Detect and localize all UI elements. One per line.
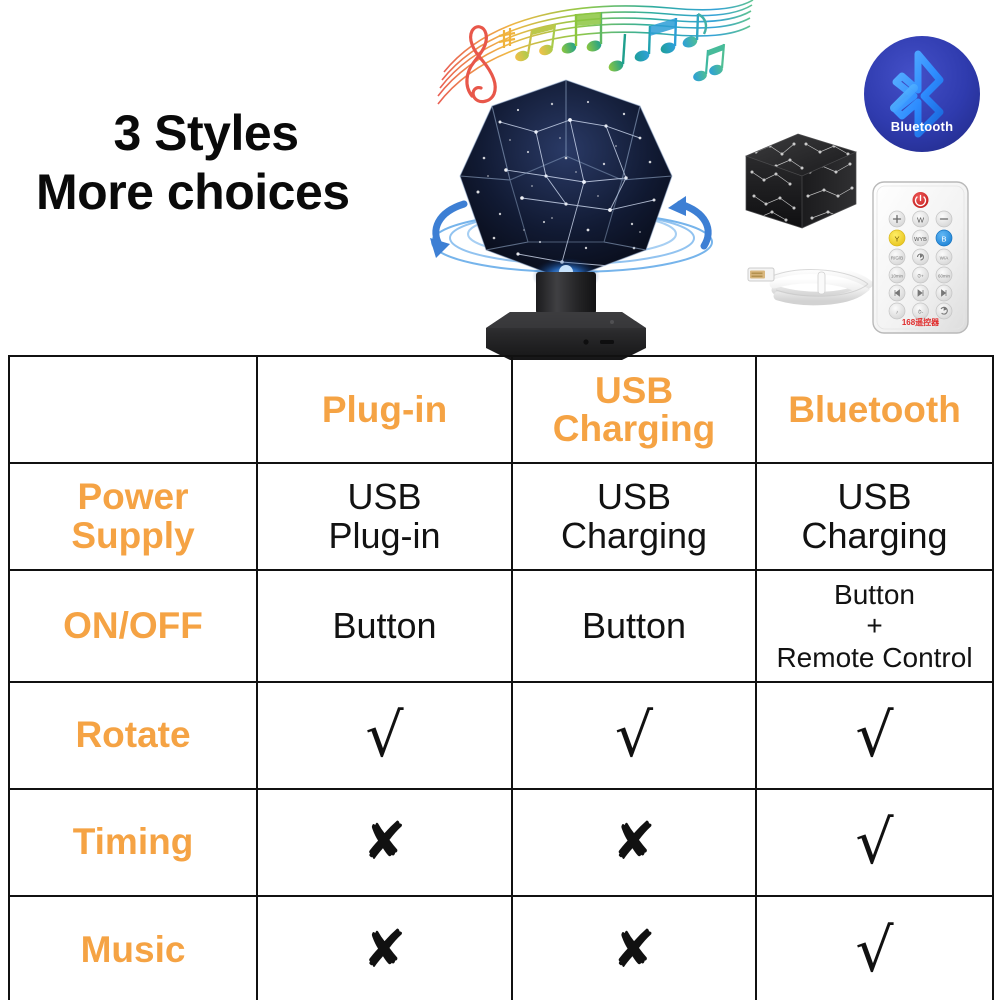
bluetooth-icon — [862, 34, 982, 154]
cell-rotate-bluetooth: √ — [756, 682, 993, 789]
table-row-timing: Timing ✘ ✘ √ — [9, 789, 993, 896]
cell-power-usb-line2: Charging — [517, 517, 751, 555]
gift-box-image — [736, 126, 864, 238]
row-label-rotate: Rotate — [9, 682, 257, 789]
svg-text:WYB: WYB — [914, 237, 927, 243]
usb-cable-image — [742, 250, 882, 320]
cell-onoff-bluetooth-line3: Remote Control — [761, 642, 988, 673]
cell-power-plug-in: USB Plug-in — [257, 463, 512, 570]
cell-timing-bluetooth: √ — [756, 789, 993, 896]
table-row-rotate: Rotate √ √ √ — [9, 682, 993, 789]
cell-music-plug-in: ✘ — [257, 896, 512, 1000]
cell-power-bluetooth-line2: Charging — [761, 517, 988, 555]
cell-onoff-bluetooth-line2: + — [761, 610, 988, 641]
comparison-table: Plug-in USB Charging Bluetooth Power Sup… — [8, 355, 994, 1000]
row-label-power-line1: Power — [14, 478, 252, 517]
cell-onoff-plug-in: Button — [257, 570, 512, 682]
product-comparison-infographic: 3 Styles More choices — [0, 0, 1000, 1000]
headline-line-1: 3 Styles — [36, 104, 436, 163]
cell-onoff-usb: Button — [512, 570, 756, 682]
cell-power-plug-in-line2: Plug-in — [262, 517, 507, 555]
row-label-power-line2: Supply — [14, 517, 252, 556]
svg-text:10min: 10min — [891, 273, 904, 278]
cell-power-usb-line1: USB — [517, 478, 751, 516]
svg-text:⏱-: ⏱- — [918, 310, 924, 316]
cell-power-bluetooth-line1: USB — [761, 478, 988, 516]
table-header-row: Plug-in USB Charging Bluetooth — [9, 356, 993, 463]
cell-power-bluetooth: USB Charging — [756, 463, 993, 570]
cell-music-usb: ✘ — [512, 896, 756, 1000]
header-corner-cell — [9, 356, 257, 463]
svg-text:W/A: W/A — [940, 256, 950, 261]
remote-control-image: W Y WYB B R/G/B W/A — [871, 180, 970, 335]
cell-rotate-plug-in: √ — [257, 682, 512, 789]
cell-onoff-bluetooth: Button + Remote Control — [756, 570, 993, 682]
bluetooth-badge: Bluetooth — [862, 34, 982, 154]
table-row-power-supply: Power Supply USB Plug-in USB Charging US… — [9, 463, 993, 570]
header-usb-charging: USB Charging — [512, 356, 756, 463]
table-row-on-off: ON/OFF Button Button Button + Remote Con… — [9, 570, 993, 682]
header-usb-charging-line1: USB — [517, 372, 751, 410]
header-plug-in: Plug-in — [257, 356, 512, 463]
header-usb-charging-line2: Charging — [517, 410, 751, 448]
headline-line-2: More choices — [36, 163, 436, 222]
svg-text:60min: 60min — [938, 273, 951, 278]
cell-timing-plug-in: ✘ — [257, 789, 512, 896]
svg-text:W: W — [917, 215, 925, 224]
svg-text:Y: Y — [894, 234, 899, 243]
cell-music-bluetooth: √ — [756, 896, 993, 1000]
headline-block: 3 Styles More choices — [36, 104, 436, 222]
svg-text:R/G/B: R/G/B — [891, 256, 904, 261]
table-row-music: Music ✘ ✘ √ — [9, 896, 993, 1000]
cell-timing-usb: ✘ — [512, 789, 756, 896]
cell-power-plug-in-line1: USB — [262, 478, 507, 516]
row-label-music: Music — [9, 896, 257, 1000]
header-bluetooth: Bluetooth — [756, 356, 993, 463]
svg-text:B: B — [941, 234, 946, 243]
cell-onoff-bluetooth-line1: Button — [761, 579, 988, 610]
cell-rotate-usb: √ — [512, 682, 756, 789]
row-label-on-off: ON/OFF — [9, 570, 257, 682]
svg-text:⏱+: ⏱+ — [917, 273, 924, 278]
star-projector-image — [440, 72, 692, 360]
row-label-timing: Timing — [9, 789, 257, 896]
row-label-power-supply: Power Supply — [9, 463, 257, 570]
cell-power-usb: USB Charging — [512, 463, 756, 570]
